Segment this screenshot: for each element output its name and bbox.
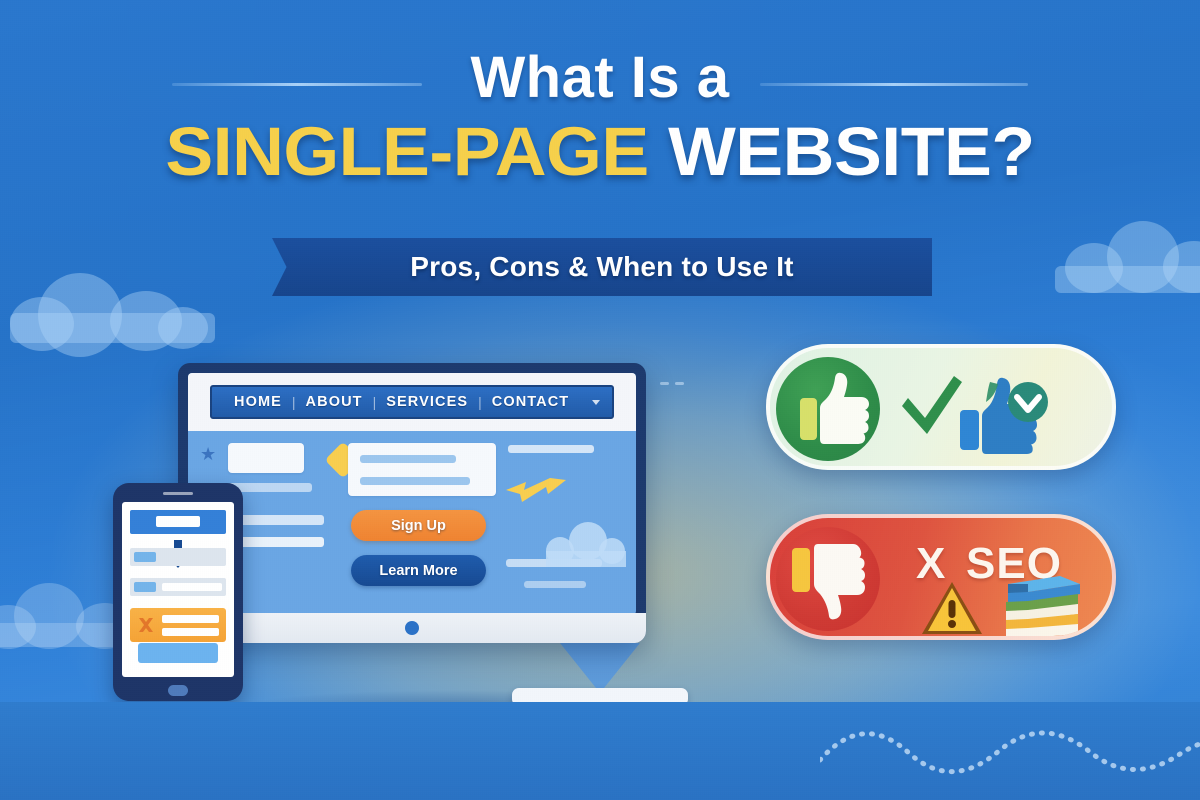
learn-more-button-label: Learn More [379,563,457,579]
phone-row-1-chip [134,552,156,562]
monitor-power-indicator [405,621,419,635]
signup-button[interactable]: Sign Up [351,510,486,541]
monitor-stand-neck [560,643,640,693]
chevron-down-icon[interactable] [592,400,600,405]
phone-row-2-chip [134,582,156,592]
thumbs-up-badge-icon [960,368,1052,460]
learn-more-button[interactable]: Learn More [351,555,486,586]
warning-triangle-icon [920,580,984,638]
screen-cloud-icon [526,521,630,567]
x-error-icon [136,615,156,635]
content-bar-center-1 [360,455,456,463]
phone-home-button[interactable] [168,685,188,696]
headline-block: What Is a SINGLE-PAGE WEBSITE? [0,48,1200,187]
tick-marks-decoration [660,382,684,385]
phone-error-banner [130,608,226,642]
content-card-left [228,443,304,473]
content-bar-right-3 [524,581,586,588]
cloud-decoration-left [10,255,215,343]
mobile-phone [113,483,243,701]
content-card-center [348,443,496,496]
phone-screen [122,502,234,677]
phone-header-bar [130,510,226,534]
pros-card [766,344,1116,470]
headline-line-1: What Is a [0,48,1200,109]
arrow-pointer-icon [504,474,568,508]
dotted-wave-decoration [820,720,1200,780]
nav-item-contact[interactable]: CONTACT [482,394,580,410]
subtitle-text: Pros, Cons & When to Use It [410,251,793,283]
phone-alert-line-2 [162,628,219,636]
site-navbar[interactable]: HOME | ABOUT | SERVICES | CONTACT [210,385,614,419]
page-content-area: ★ Sign Up Learn More [188,431,636,615]
headline-line-2: SINGLE-PAGE WEBSITE? [0,117,1200,187]
check-mark-icon [898,370,964,442]
cloud-decoration-right [1055,215,1200,293]
infographic-canvas: What Is a SINGLE-PAGE WEBSITE? Pros, Con… [0,0,1200,800]
cons-card: X SEO [766,514,1116,640]
content-bar-right-1 [508,445,594,453]
phone-row-2-line [162,583,222,591]
monitor-screen: HOME | ABOUT | SERVICES | CONTACT ★ [188,373,636,615]
star-icon: ★ [200,445,216,463]
phone-bottom-bar [138,643,218,663]
phone-alert-line-1 [162,615,219,623]
thumbs-down-icon [792,540,870,620]
content-bar-center-2 [360,477,470,485]
headline-rest: WEBSITE? [649,113,1035,190]
desktop-monitor: HOME | ABOUT | SERVICES | CONTACT ★ [178,363,646,643]
nav-item-home[interactable]: HOME [224,394,292,410]
phone-speaker [163,492,193,495]
signup-button-label: Sign Up [391,518,446,534]
subtitle-ribbon: Pros, Cons & When to Use It [272,238,932,296]
book-stack-icon [998,574,1082,640]
nav-item-services[interactable]: SERVICES [376,394,478,410]
nav-item-about[interactable]: ABOUT [296,394,373,410]
thumbs-up-icon [800,372,870,446]
monitor-chin [178,613,646,643]
phone-header-inner-bar [156,516,200,527]
headline-highlight: SINGLE-PAGE [165,113,648,190]
